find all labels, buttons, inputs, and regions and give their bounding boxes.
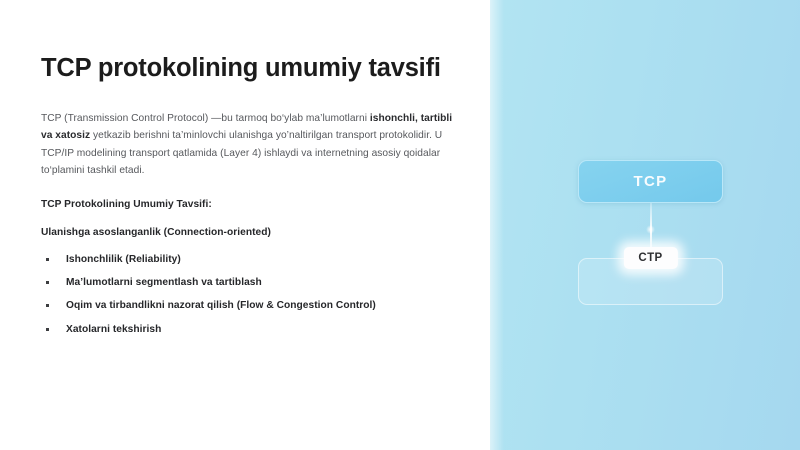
list-item-label: Ishonchlilik (Reliability) — [66, 254, 181, 265]
bullet-marker-icon — [46, 304, 49, 307]
bullet-marker-icon — [46, 281, 49, 284]
tcp-node-diagram: TCP CTP — [578, 160, 723, 305]
diagram-node-secondary: CTP — [578, 258, 723, 305]
diagram-node-primary: TCP — [578, 160, 723, 203]
diagram-node-secondary-chip-label: CTP — [623, 247, 677, 269]
page-title: TCP protokolining umumiy tavsifi — [41, 52, 441, 86]
section-heading: TCP Protokolining Umumiy Tavsifi: — [41, 199, 456, 210]
list-item: Ma’lumotlarni segmentlash va tartiblash — [41, 277, 456, 289]
slide-root: TCP protokolining umumiy tavsifi TCP (Tr… — [0, 0, 800, 450]
diagram-node-primary-label: TCP — [634, 173, 668, 190]
panel-edge-glow — [490, 0, 504, 450]
connector-node-dot-icon — [646, 225, 655, 234]
paragraph-text-tail: yetkazib berishni ta’minlovchi ulanishga… — [41, 130, 442, 176]
bullet-marker-icon — [46, 258, 49, 261]
paragraph-text-lead: TCP (Transmission Control Protocol) —bu … — [41, 113, 370, 124]
list-item-label: Xatolarni tekshirish — [66, 324, 161, 335]
bullet-marker-icon — [46, 328, 49, 331]
list-item: Oqim va tirbandlikni nazorat qilish (Flo… — [41, 300, 456, 312]
body-paragraph: TCP (Transmission Control Protocol) —bu … — [41, 110, 456, 180]
list-item: Ishonchlilik (Reliability) — [41, 254, 456, 266]
content-pane: TCP protokolining umumiy tavsifi TCP (Tr… — [0, 0, 490, 450]
list-item-label: Ma’lumotlarni segmentlash va tartiblash — [66, 277, 262, 288]
list-item: Xatolarni tekshirish — [41, 324, 456, 336]
subsection-heading: Ulanishga asoslanganlik (Connection-orie… — [41, 227, 456, 238]
list-item-label: Oqim va tirbandlikni nazorat qilish (Flo… — [66, 300, 376, 311]
feature-bullet-list: Ishonchlilik (Reliability) Ma’lumotlarni… — [41, 254, 456, 336]
diagram-pane: TCP CTP — [490, 0, 800, 450]
